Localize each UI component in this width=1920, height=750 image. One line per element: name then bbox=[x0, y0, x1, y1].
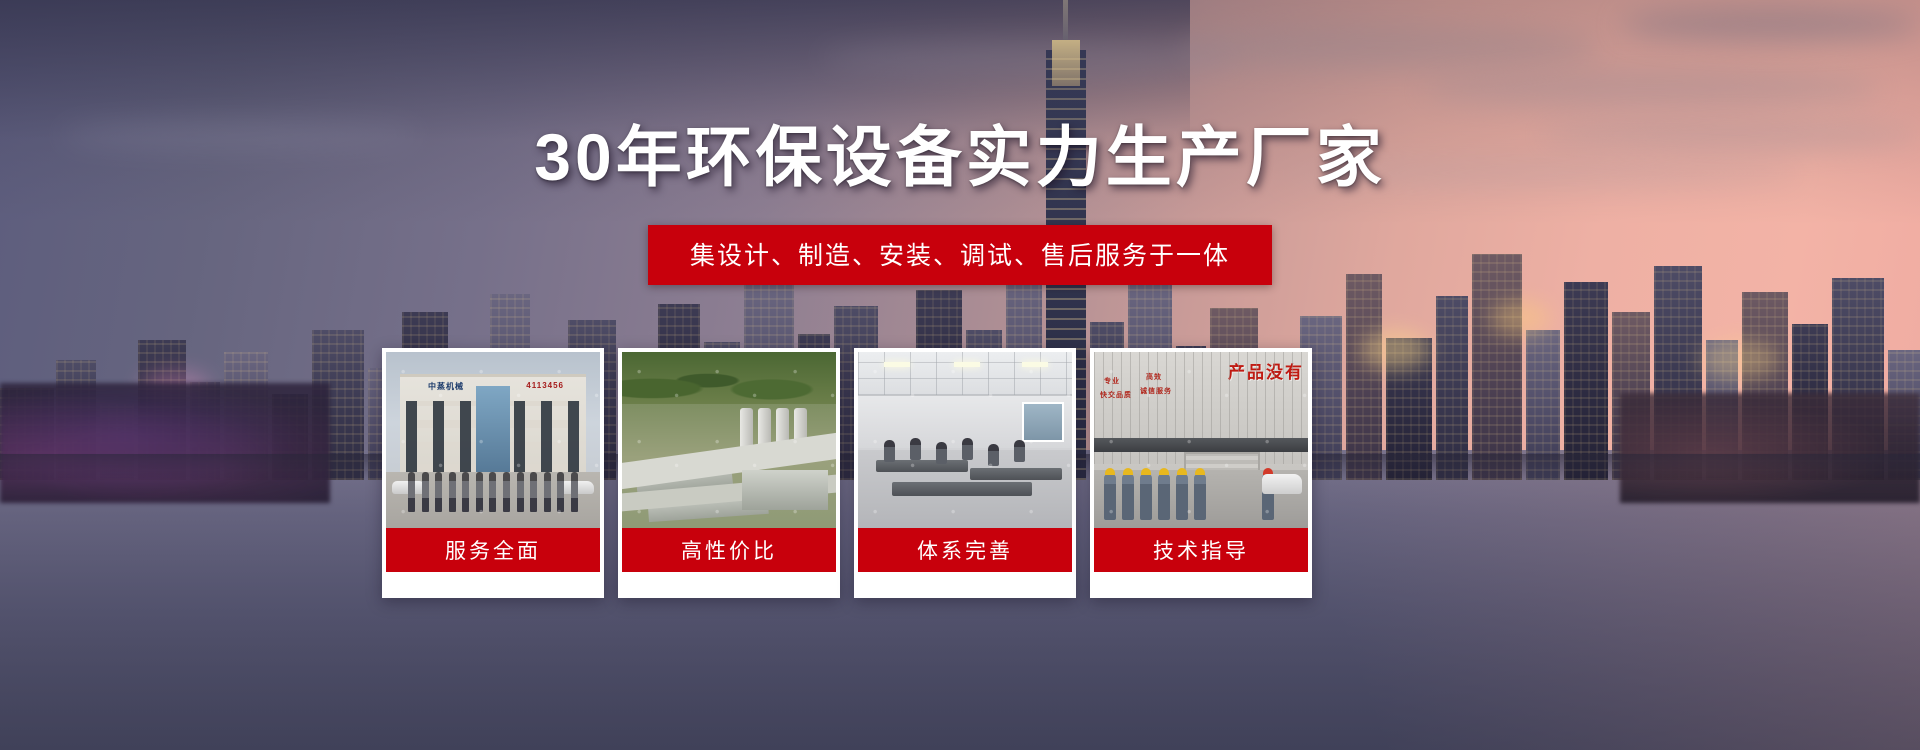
card-photo-office-building: 中蒸机械 4113456 bbox=[386, 352, 600, 528]
subtitle-container: 集设计、制造、安装、调试、售后服务于一体 bbox=[0, 225, 1920, 285]
factory-small-sign: 快交品质 bbox=[1100, 390, 1132, 400]
factory-sign-label: 产品没有 bbox=[1228, 358, 1304, 383]
feature-card[interactable]: 高性价比 bbox=[618, 348, 840, 598]
card-photo-factory-exterior: 产品没有 专业 快交品质 高效 诚信服务 bbox=[1094, 352, 1308, 528]
card-label: 高性价比 bbox=[622, 528, 836, 572]
subtitle-badge: 集设计、制造、安装、调试、售后服务于一体 bbox=[648, 225, 1272, 285]
factory-small-sign: 诚信服务 bbox=[1140, 386, 1172, 396]
factory-small-sign: 专业 bbox=[1104, 376, 1120, 386]
feature-card[interactable]: 产品没有 专业 快交品质 高效 诚信服务 技术指导 bbox=[1090, 348, 1312, 598]
card-photo-industrial-plant bbox=[622, 352, 836, 528]
feature-card-list: 中蒸机械 4113456 服务全面 bbox=[382, 348, 1538, 598]
feature-card[interactable]: 中蒸机械 4113456 服务全面 bbox=[382, 348, 604, 598]
factory-small-sign: 高效 bbox=[1146, 372, 1162, 382]
card-label: 服务全面 bbox=[386, 528, 600, 572]
building-sign-label: 中蒸机械 bbox=[428, 381, 464, 392]
hero-banner: 30年环保设备实力生产厂家 集设计、制造、安装、调试、售后服务于一体 中蒸机械 … bbox=[0, 0, 1920, 750]
card-photo-office-interior bbox=[858, 352, 1072, 528]
feature-card[interactable]: 体系完善 bbox=[854, 348, 1076, 598]
building-phone-label: 4113456 bbox=[526, 381, 564, 390]
page-title: 30年环保设备实力生产厂家 bbox=[0, 104, 1920, 200]
card-label: 技术指导 bbox=[1094, 528, 1308, 572]
card-label: 体系完善 bbox=[858, 528, 1072, 572]
